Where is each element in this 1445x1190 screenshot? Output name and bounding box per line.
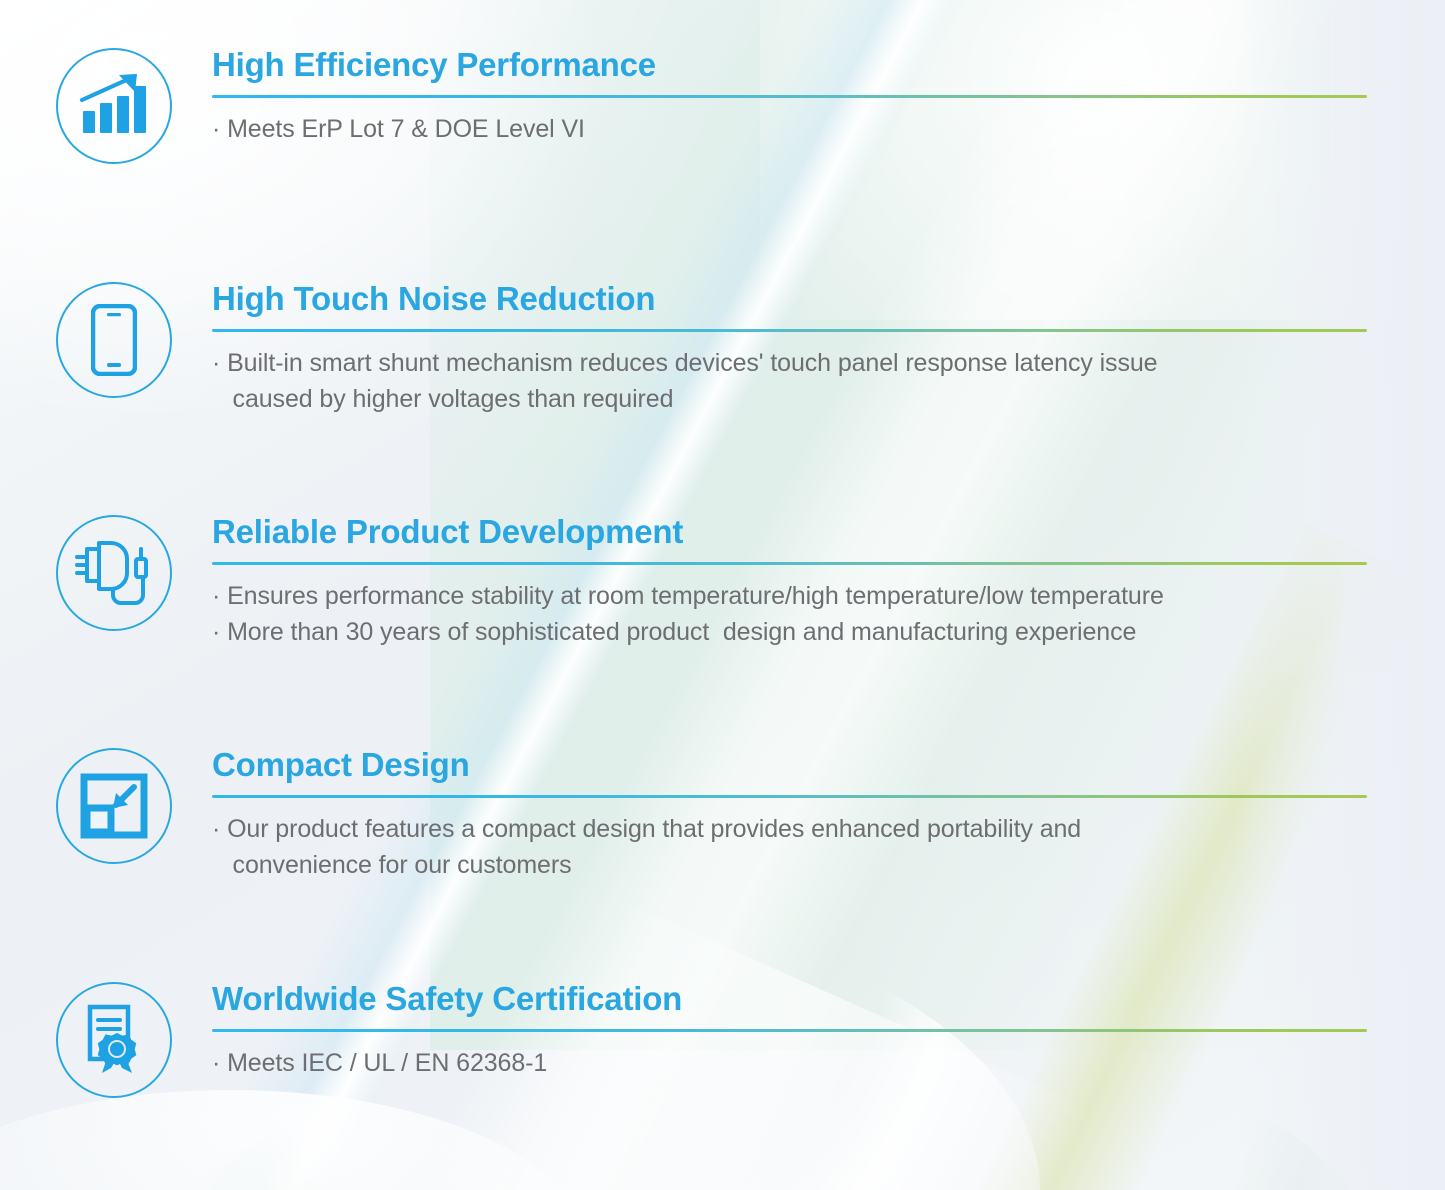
feature-icon-wrap bbox=[52, 982, 176, 1098]
feature-title: High Touch Noise Reduction bbox=[212, 282, 1367, 315]
compact-resize-icon bbox=[56, 748, 172, 864]
feature-body: Reliable Product Development · Ensures p… bbox=[212, 515, 1445, 651]
feature-title: Reliable Product Development bbox=[212, 515, 1367, 548]
feature-item: Compact Design · Our product features a … bbox=[0, 748, 1445, 884]
feature-divider bbox=[212, 329, 1367, 332]
feature-bullets: · Meets ErP Lot 7 & DOE Level VI bbox=[212, 111, 1367, 147]
feature-icon-wrap bbox=[52, 282, 176, 398]
feature-list-page: High Efficiency Performance · Meets ErP … bbox=[0, 0, 1445, 1190]
feature-bullet: · Our product features a compact design … bbox=[212, 811, 1367, 884]
feature-bullets: · Ensures performance stability at room … bbox=[212, 578, 1367, 651]
feature-bullets: · Built-in smart shunt mechanism reduces… bbox=[212, 345, 1367, 418]
feature-bullet: · Meets IEC / UL / EN 62368-1 bbox=[212, 1045, 1367, 1081]
feature-item: Reliable Product Development · Ensures p… bbox=[0, 515, 1445, 651]
feature-bullet: · Ensures performance stability at room … bbox=[212, 578, 1367, 614]
certificate-seal-icon bbox=[56, 982, 172, 1098]
feature-icon-wrap bbox=[52, 515, 176, 631]
feature-bullet: · More than 30 years of sophisticated pr… bbox=[212, 614, 1367, 650]
feature-icon-wrap bbox=[52, 748, 176, 864]
feature-bullet: · Meets ErP Lot 7 & DOE Level VI bbox=[212, 111, 1367, 147]
feature-divider bbox=[212, 795, 1367, 798]
feature-body: High Touch Noise Reduction · Built-in sm… bbox=[212, 282, 1445, 418]
feature-divider bbox=[212, 1029, 1367, 1032]
feature-title: High Efficiency Performance bbox=[212, 48, 1367, 81]
feature-bullets: · Meets IEC / UL / EN 62368-1 bbox=[212, 1045, 1367, 1081]
feature-bullets: · Our product features a compact design … bbox=[212, 811, 1367, 884]
feature-item: High Touch Noise Reduction · Built-in sm… bbox=[0, 282, 1445, 418]
feature-bullet: · Built-in smart shunt mechanism reduces… bbox=[212, 345, 1367, 418]
feature-body: Compact Design · Our product features a … bbox=[212, 748, 1445, 884]
bar-chart-growth-icon bbox=[56, 48, 172, 164]
features-container: High Efficiency Performance · Meets ErP … bbox=[0, 0, 1445, 1190]
feature-item: High Efficiency Performance · Meets ErP … bbox=[0, 48, 1445, 164]
feature-title: Worldwide Safety Certification bbox=[212, 982, 1367, 1015]
smartphone-icon bbox=[56, 282, 172, 398]
feature-icon-wrap bbox=[52, 48, 176, 164]
feature-divider bbox=[212, 95, 1367, 98]
feature-item: Worldwide Safety Certification · Meets I… bbox=[0, 982, 1445, 1098]
feature-body: High Efficiency Performance · Meets ErP … bbox=[212, 48, 1445, 147]
feature-divider bbox=[212, 562, 1367, 565]
feature-body: Worldwide Safety Certification · Meets I… bbox=[212, 982, 1445, 1081]
power-adapter-icon bbox=[56, 515, 172, 631]
feature-title: Compact Design bbox=[212, 748, 1367, 781]
